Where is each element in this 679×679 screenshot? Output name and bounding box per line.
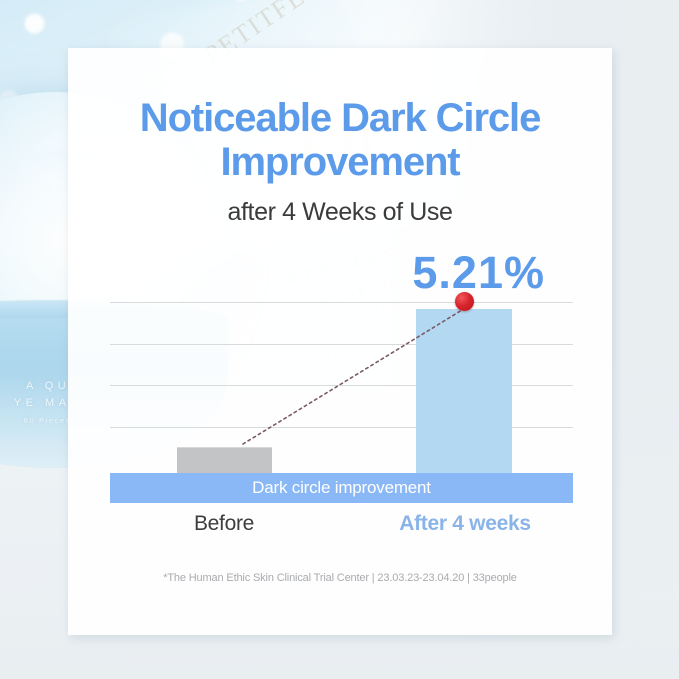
value-marker-dot (455, 292, 474, 311)
title-line-2: Improvement (68, 140, 612, 184)
axis-label-after: After 4 weeks (390, 512, 540, 536)
axis-label-before: Before (176, 512, 272, 536)
content-card: Noticeable Dark Circle Improvement after… (68, 48, 612, 635)
headline-value: 5.21% (412, 247, 545, 299)
page-subtitle: after 4 Weeks of Use (68, 198, 612, 227)
page-title: Noticeable Dark Circle Improvement (68, 96, 612, 184)
bar-chart (110, 302, 573, 473)
x-axis-labels: Before After 4 weeks (110, 512, 573, 542)
title-line-1: Noticeable Dark Circle (68, 96, 612, 140)
trend-line (110, 302, 573, 473)
study-footnote: *The Human Ethic Skin Clinical Trial Cen… (68, 572, 612, 584)
promotional-infographic: A QUA YE MASK 60 Pieces, 3 PETITFÉE QP E… (0, 0, 679, 679)
chart-series-banner: Dark circle improvement (110, 473, 573, 503)
card-inner: Noticeable Dark Circle Improvement after… (68, 48, 612, 635)
